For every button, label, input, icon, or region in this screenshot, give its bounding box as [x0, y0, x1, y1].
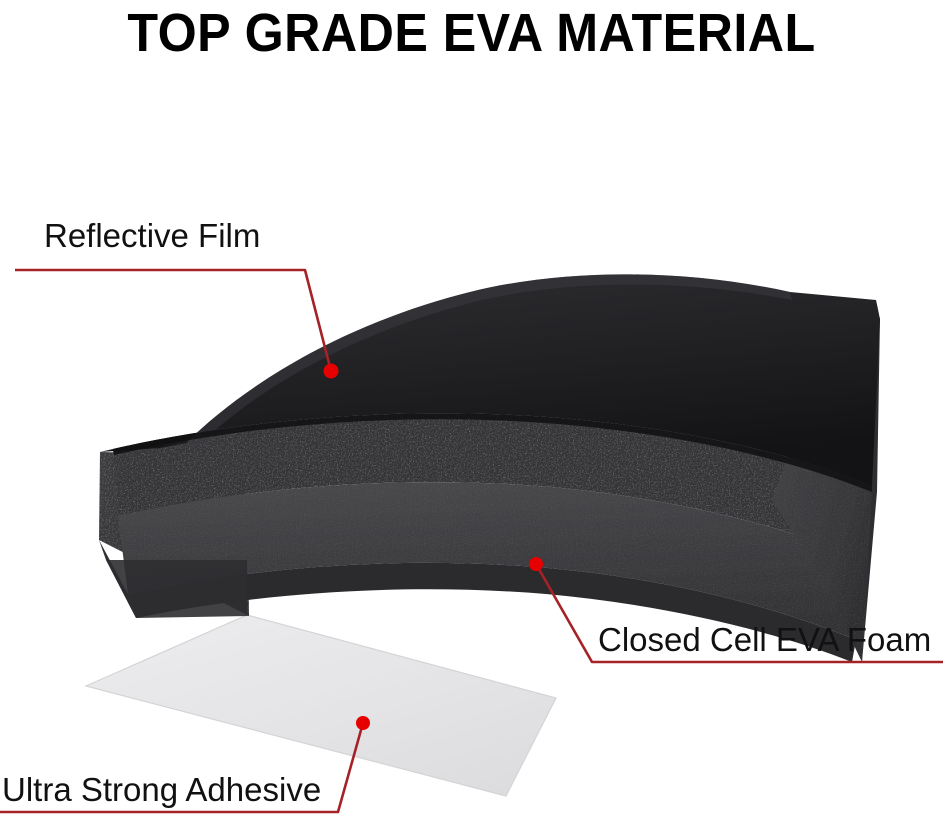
callout-label-closed-cell-eva-foam: Closed Cell EVA Foam — [598, 622, 931, 658]
foam-underside-sliver — [106, 560, 249, 618]
adhesive-backing-layer — [86, 615, 556, 796]
eva-material-illustration — [0, 0, 943, 820]
callout-label-ultra-strong-adhesive: Ultra Strong Adhesive — [2, 772, 321, 808]
adhesive-sheet-face — [86, 615, 556, 796]
callout-label-reflective-film: Reflective Film — [44, 218, 260, 254]
infographic-page: TOP GRADE EVA MATERIAL — [0, 0, 943, 820]
